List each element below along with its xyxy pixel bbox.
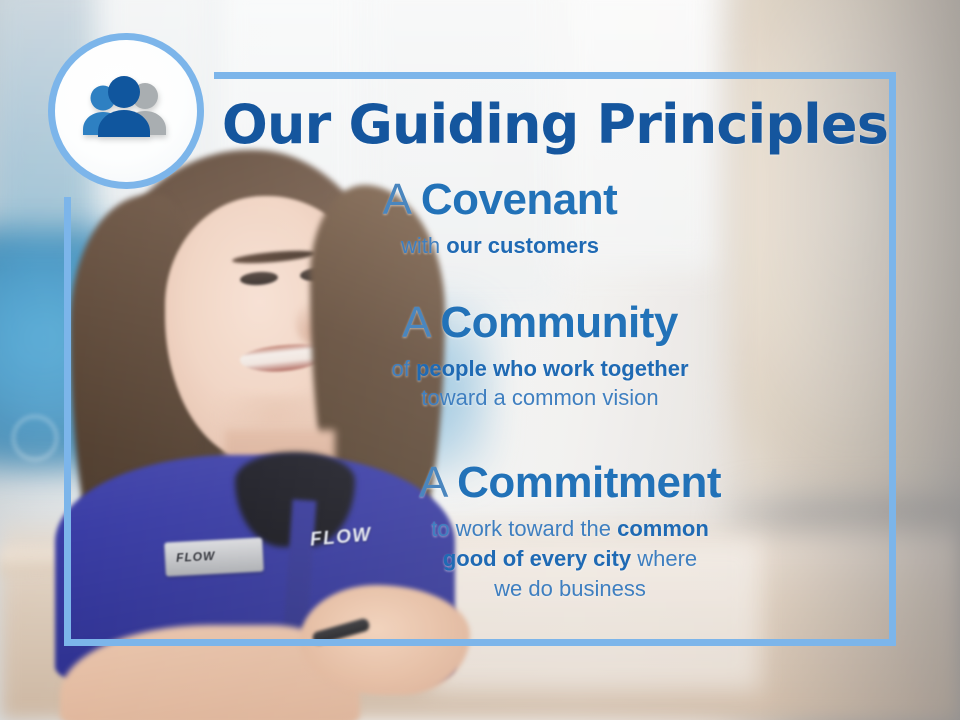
text-plain: we do business [494, 576, 646, 601]
description-line: to work toward the common [244, 514, 896, 544]
description-line: toward a common vision [184, 383, 896, 412]
headline-keyword: Covenant [421, 175, 617, 224]
principle-commitment: A Commitment to work toward the common g… [64, 460, 896, 604]
text-plain: to work toward the [431, 516, 617, 541]
principle-description: with our customers [104, 231, 896, 260]
description-line: of people who work together [184, 354, 896, 383]
headline-article: A [402, 298, 428, 347]
page-title: Our Guiding Principles [64, 98, 896, 152]
description-line: with our customers [104, 231, 896, 260]
principle-headline: A Covenant [104, 177, 896, 223]
headline-keyword: Commitment [457, 458, 721, 507]
text-emphasis: good of every city [443, 546, 631, 571]
text-plain: with [401, 233, 446, 258]
text-plain: of [391, 356, 415, 381]
description-line: good of every city where [244, 544, 896, 574]
principle-covenant: A Covenant with our customers [64, 177, 896, 260]
principle-description: to work toward the common good of every … [244, 514, 896, 604]
principle-community: A Community of people who work together … [64, 300, 896, 412]
headline-article: A [419, 458, 445, 507]
text-plain: toward a common vision [421, 385, 658, 410]
headline-article: A [383, 175, 409, 224]
text-emphasis: common [617, 516, 709, 541]
text-emphasis: people who work together [416, 356, 689, 381]
description-line: we do business [244, 574, 896, 604]
principle-headline: A Community [184, 300, 896, 346]
headline-keyword: Community [440, 298, 678, 347]
principle-headline: A Commitment [244, 460, 896, 506]
text-plain: where [631, 546, 697, 571]
text-emphasis: our customers [446, 233, 599, 258]
principles-content: Our Guiding Principles A Covenant with o… [64, 72, 896, 646]
principle-description: of people who work together toward a com… [184, 354, 896, 412]
